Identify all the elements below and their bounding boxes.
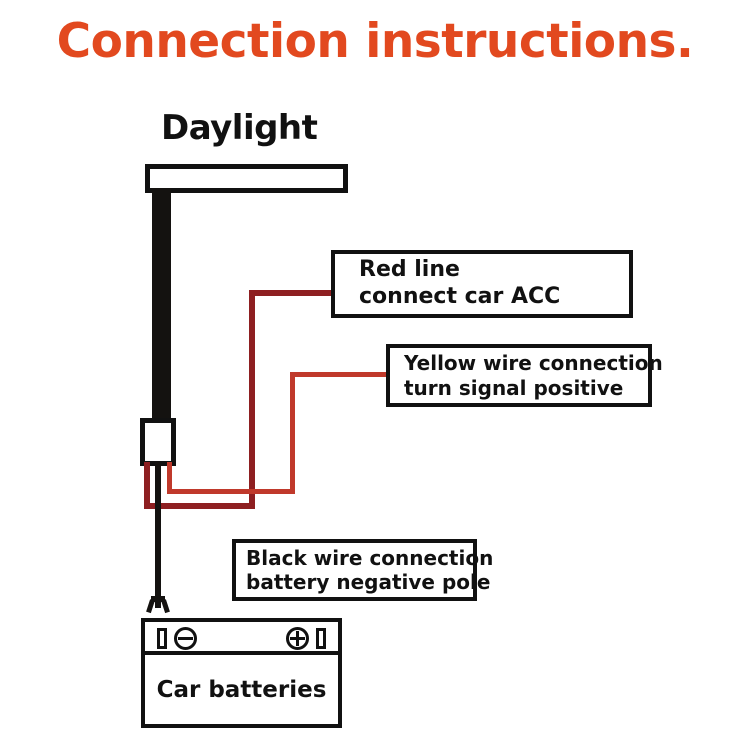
callout-black-wire-battery-negative: Black wire connection battery negative p… [232,539,477,601]
main-cable [152,188,171,422]
turn-signal-wire-segment-to-callout [290,372,393,377]
callout-yellow-wire-turn-signal: Yellow wire connection turn signal posit… [386,344,652,407]
battery-label: Car batteries [157,677,327,703]
battery-negative-symbol-icon [174,627,197,650]
battery-positive-symbol-icon [286,627,309,650]
callout-black-wire-line2: battery negative pole [246,570,473,594]
plus-bar-vertical-icon [296,631,299,646]
callout-red-line-acc: Red line connect car ACC [331,250,633,318]
minus-bar-icon [178,637,193,640]
battery-positive-terminal-post [316,628,326,649]
black-ground-wire-fork-left [146,599,155,613]
callout-red-line-acc-line2: connect car ACC [359,284,629,311]
battery-terminal-strip [145,622,338,655]
connection-instructions-diagram: Connection instructions. Daylight Red li… [0,0,750,750]
daylight-label: Daylight [161,108,317,148]
turn-signal-wire-segment-across [167,489,295,494]
turn-signal-wire-segment-up [290,372,295,494]
battery-negative-terminal-post [157,628,167,649]
daylight-lamp-bar [145,164,348,193]
callout-black-wire-line1: Black wire connection [246,546,473,570]
car-battery: Car batteries [141,618,342,728]
callout-yellow-wire-line1: Yellow wire connection [404,351,648,375]
black-ground-wire-fork-right [161,599,170,613]
battery-body: Car batteries [145,655,338,724]
black-ground-wire [155,462,161,608]
page-title: Connection instructions. [0,14,750,69]
callout-yellow-wire-line2: turn signal positive [404,376,648,400]
callout-red-line-acc-line1: Red line [359,257,629,284]
red-acc-wire-segment-to-callout [249,290,339,296]
red-acc-wire-segment-down [144,462,150,509]
connector-block [140,418,176,466]
red-acc-wire-segment-up [249,290,255,509]
